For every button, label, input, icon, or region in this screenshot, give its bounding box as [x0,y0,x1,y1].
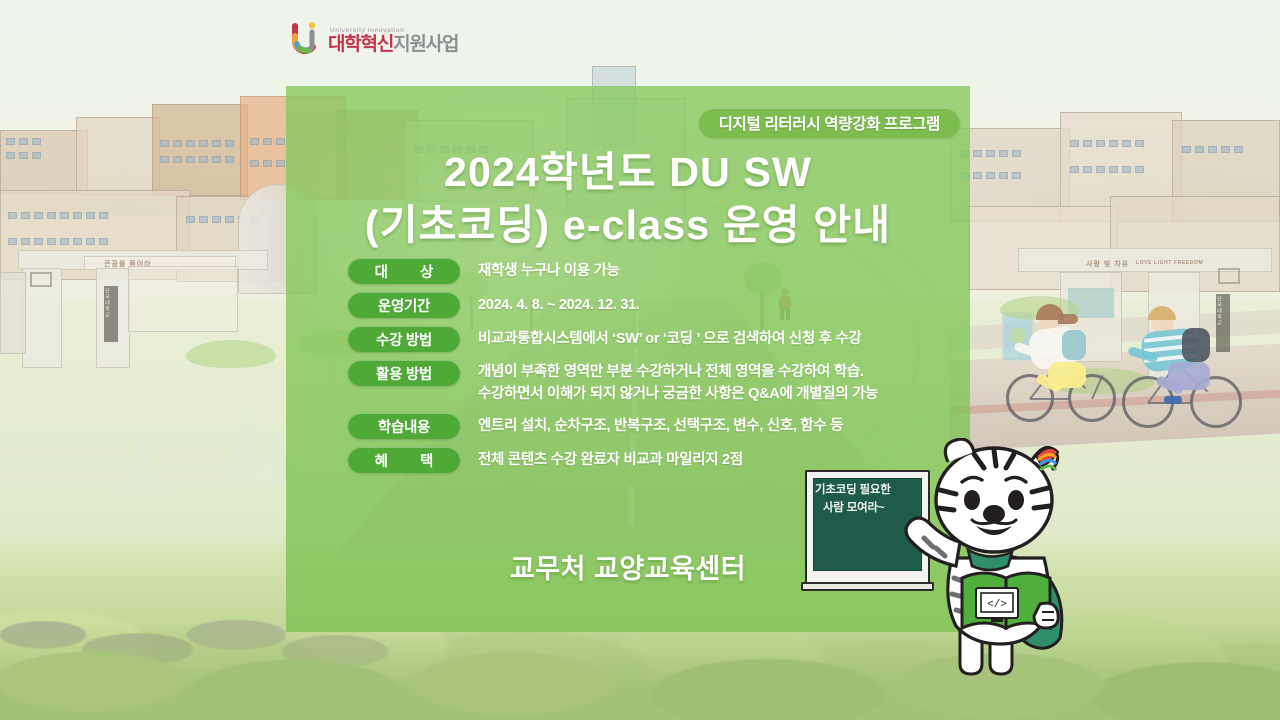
building-block [76,117,160,195]
row-value-period: 2024. 4. 8. ~ 2024. 12. 31. [478,292,970,316]
right-gate-emblem [1218,268,1240,284]
row-value-line1: 엔트리 설치, 순차구조, 반복구조, 선택구조, 변수, 신호, 함수 등 [478,418,843,434]
poster-title: 2024학년도 DU SW (기초코딩) e-class 운영 안내 [286,146,970,253]
row-value-line1: 재학생 누구나 이용 가능 [478,263,620,279]
right-gate-text-ko: 사랑 빛 자유 [1086,259,1129,269]
row-value-line2: 수강하면서 이해가 되지 않거나 궁금한 사항은 Q&A에 개별질의 가능 [478,383,970,405]
svg-text:</>: </> [987,599,1007,611]
backpack [1062,330,1086,360]
info-rows: 대 상 재학생 누구나 이용 가능 운영기간 2024. 4. 8. ~ 202… [286,258,970,481]
left-gate-emblem [30,272,52,287]
info-row: 학습내용 엔트리 설치, 순차구조, 반복구조, 선택구조, 변수, 신호, 함… [286,413,970,439]
row-label-target: 대 상 [348,258,460,284]
row-label-period: 운영기간 [348,292,460,318]
logo-korean-part2: 지원사업 [393,34,458,55]
logo-korean-text: 대학혁신지원사업 [328,35,458,54]
title-line-2: (기초코딩) e-class 운영 안내 [286,199,970,252]
info-row: 수강 방법 비교과통합시스템에서 ‘SW’ or ‘코딩 ’ 으로 검색하여 신… [286,326,970,352]
row-value-howto: 비교과통합시스템에서 ‘SW’ or ‘코딩 ’ 으로 검색하여 신청 후 수강 [478,326,970,350]
row-value-target: 재학생 누구나 이용 가능 [478,258,970,282]
logo-korean-part1: 대학혁신 [328,34,393,55]
backpack [1182,328,1210,362]
shrub [186,340,276,368]
info-row: 운영기간 2024. 4. 8. ~ 2024. 12. 31. [286,292,970,318]
left-gate-arch [128,266,238,332]
poster-stage: 큰꿈을 품어라 단국대학교 사랑 빛 자유 LOVE LIGHT FREEDOM… [0,0,1280,720]
row-value-line1: 개념이 부족한 영역만 부분 수강하거나 전체 영역을 수강하여 학습. [478,364,864,380]
cyclist-figure [1122,300,1252,432]
right-gate-text-en: LOVE LIGHT FREEDOM [1136,260,1203,266]
row-value-usage: 개념이 부족한 영역만 부분 수강하거나 전체 영역을 수강하여 학습. 수강하… [478,359,970,405]
building-block [152,104,248,196]
ponytail [1058,314,1078,324]
cyclist-figure [1006,296,1126,426]
row-label-curriculum: 학습내용 [348,413,460,439]
row-value-curriculum: 엔트리 설치, 순차구조, 반복구조, 선택구조, 변수, 신호, 함수 등 [478,413,970,437]
row-value-line1: 비교과통합시스템에서 ‘SW’ or ‘코딩 ’ 으로 검색하여 신청 후 수강 [478,331,861,347]
conifer-tree [120,430,164,494]
logo-english-text: University innovation [330,27,458,34]
row-label-howto: 수강 방법 [348,326,460,352]
left-gate-plaque: 단국대학교 [104,286,118,342]
program-badge: 디지털 리터러시 역량강화 프로그램 [699,108,960,138]
row-label-usage: 활용 방법 [348,360,460,386]
university-innovation-logo: University innovation 대학혁신지원사업 [292,16,462,56]
info-row: 활용 방법 개념이 부족한 영역만 부분 수강하거나 전체 영역을 수강하여 학… [286,360,970,405]
left-gate-wing [0,272,26,354]
row-label-benefit: 혜 택 [348,447,460,473]
row-value-line1: 전체 콘텐츠 수강 완료자 비교과 마일리지 2점 [478,452,743,468]
info-row: 대 상 재학생 누구나 이용 가능 [286,258,970,284]
uj-logo-mark-icon [292,22,322,56]
white-tiger-mascot: </> [890,438,1095,686]
row-value-line1: 2024. 4. 8. ~ 2024. 12. 31. [478,297,640,313]
title-line-1: 2024학년도 DU SW [286,146,970,199]
left-gate-plaque-text: 단국대학교 [104,286,111,320]
